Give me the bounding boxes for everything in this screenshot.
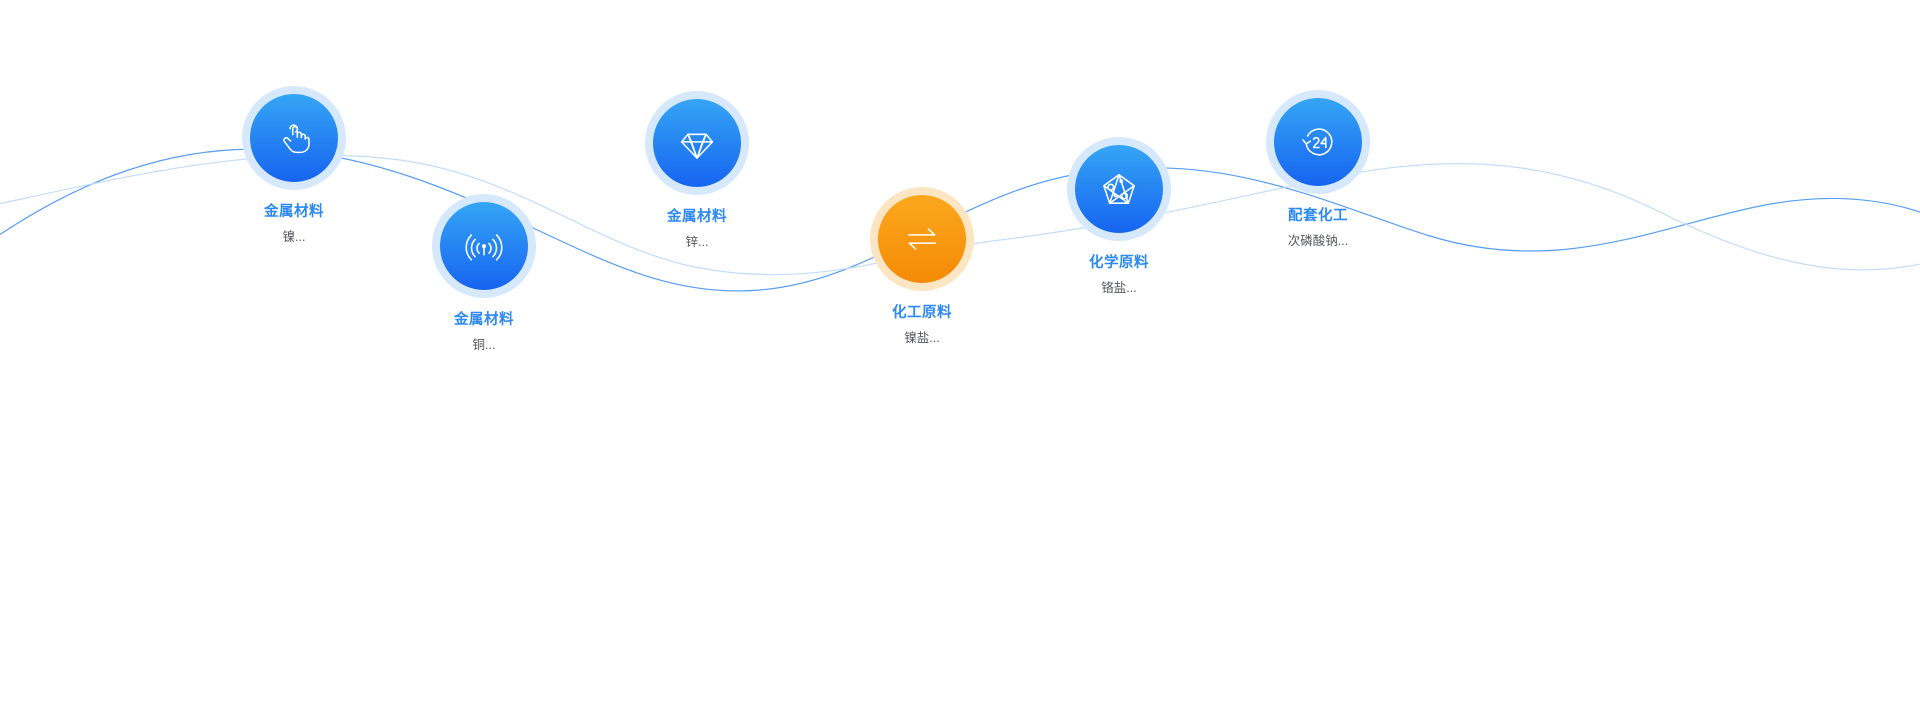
node-sodium-hypophosphite-title: 配套化工: [1218, 208, 1418, 225]
node-zinc[interactable]: 金属材料 锌...: [597, 91, 797, 250]
node-zinc-disc[interactable]: [653, 99, 741, 187]
node-nickel-subtitle: 镍...: [194, 230, 394, 245]
node-sodium-hypophosphite[interactable]: 配套化工 次磷酸钠...: [1218, 90, 1418, 249]
node-chrome-salt-disc[interactable]: [1075, 145, 1163, 233]
node-nickel-salt-title: 化工原料: [822, 305, 1022, 322]
node-nickel-salt-subtitle: 镍盐...: [822, 331, 1022, 346]
node-chrome-salt-subtitle: 铬盐...: [1019, 281, 1219, 296]
node-sodium-hypophosphite-subtitle: 次磷酸钠...: [1218, 234, 1418, 249]
node-sodium-hypophosphite-bubble[interactable]: [1266, 90, 1370, 194]
node-nickel-title: 金属材料: [194, 204, 394, 221]
molecule-pentagon-icon: [1097, 167, 1141, 211]
node-nickel-disc[interactable]: [250, 94, 338, 182]
supply-chain-flow-canvas: 金属材料 镍... 金属材料 铜...: [0, 0, 1920, 718]
node-nickel-bubble[interactable]: [242, 86, 346, 190]
node-copper-bubble[interactable]: [432, 194, 536, 298]
node-nickel-salt[interactable]: 化工原料 镍盐...: [822, 187, 1022, 346]
node-zinc-title: 金属材料: [597, 209, 797, 226]
node-zinc-subtitle: 锌...: [597, 235, 797, 250]
hand-tap-icon: [273, 117, 315, 159]
node-zinc-bubble[interactable]: [645, 91, 749, 195]
node-chrome-salt-bubble[interactable]: [1067, 137, 1171, 241]
signal-waves-icon: [462, 224, 506, 268]
node-nickel[interactable]: 金属材料 镍...: [194, 86, 394, 245]
node-sodium-hypophosphite-disc[interactable]: [1274, 98, 1362, 186]
node-copper-title: 金属材料: [384, 312, 584, 329]
node-nickel-salt-bubble[interactable]: [870, 187, 974, 291]
exchange-arrows-icon: [900, 217, 944, 261]
node-copper[interactable]: 金属材料 铜...: [384, 194, 584, 353]
node-chrome-salt[interactable]: 化学原料 铬盐...: [1019, 137, 1219, 296]
service-24h-icon: [1296, 120, 1340, 164]
node-copper-subtitle: 铜...: [384, 338, 584, 353]
node-copper-disc[interactable]: [440, 202, 528, 290]
node-chrome-salt-title: 化学原料: [1019, 255, 1219, 272]
node-nickel-salt-disc[interactable]: [878, 195, 966, 283]
diamond-icon: [675, 121, 719, 165]
